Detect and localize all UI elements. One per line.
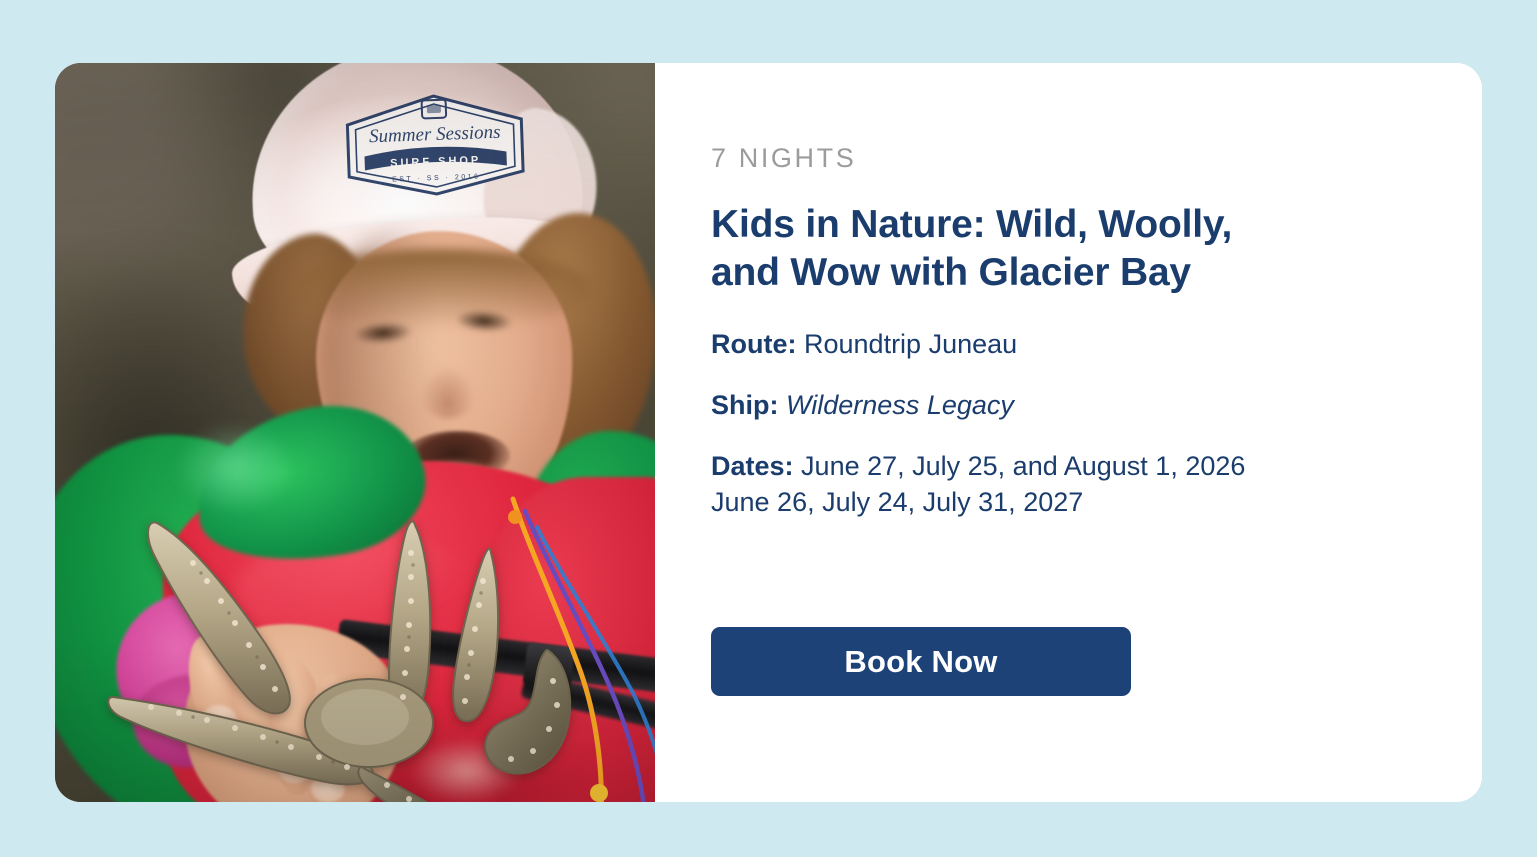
itinerary-title-line-2: and Wow with Glacier Bay: [711, 249, 1391, 297]
cap-logo-patch: Summer Sessions SURF SHOP EST · SS · 201…: [336, 79, 534, 204]
itinerary-title-line-1: Kids in Nature: Wild, Woolly,: [711, 201, 1391, 249]
jacket-highlight: [175, 423, 295, 513]
dates-label: Dates:: [711, 451, 794, 481]
ship-value: Wilderness Legacy: [786, 390, 1014, 420]
sea-star: [97, 501, 655, 802]
cruise-photo: Summer Sessions SURF SHOP EST · SS · 201…: [55, 63, 655, 802]
duration-eyebrow: 7 NIGHTS: [711, 145, 1482, 172]
route-label: Route:: [711, 329, 796, 359]
route-detail: Route: Roundtrip Juneau: [711, 326, 1482, 363]
itinerary-card: Summer Sessions SURF SHOP EST · SS · 201…: [55, 63, 1482, 802]
nose: [421, 367, 475, 419]
dates-value-2026: June 27, July 25, and August 1, 2026: [801, 451, 1245, 481]
route-value: Roundtrip Juneau: [804, 329, 1017, 359]
dates-value-2027: June 26, July 24, July 31, 2027: [711, 484, 1482, 521]
hair-fringe: [291, 249, 591, 329]
itinerary-details-pane: 7 NIGHTS Kids in Nature: Wild, Woolly, a…: [655, 63, 1482, 802]
photo-stage: Summer Sessions SURF SHOP EST · SS · 201…: [55, 63, 655, 802]
ship-detail: Ship: Wilderness Legacy: [711, 387, 1482, 424]
ship-label: Ship:: [711, 390, 779, 420]
dates-line-1: Dates: June 27, July 25, and August 1, 2…: [711, 448, 1482, 485]
itinerary-title: Kids in Nature: Wild, Woolly, and Wow wi…: [711, 201, 1391, 296]
book-now-button[interactable]: Book Now: [711, 627, 1131, 696]
dates-detail: Dates: June 27, July 25, and August 1, 2…: [711, 448, 1482, 521]
